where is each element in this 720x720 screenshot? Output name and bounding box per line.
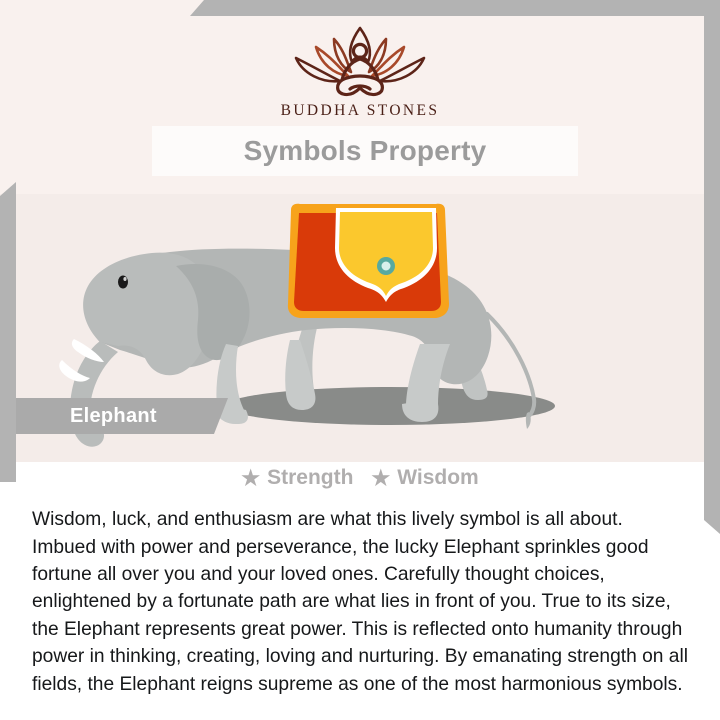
elephant-eye [118, 276, 128, 289]
trait-wisdom: ★ Wisdom [371, 466, 478, 490]
symbol-name: Elephant [16, 398, 206, 434]
brand-logo: BUDDHA STONES [0, 22, 720, 120]
brand-name: BUDDHA STONES [0, 102, 720, 120]
symbol-property-card: BUDDHA STONES Symbols Property [0, 0, 720, 720]
elephant-shadow [225, 387, 555, 425]
elephant-eye-highlight [123, 277, 126, 281]
trait-label: Strength [267, 466, 353, 490]
saddle-blanket [288, 204, 449, 318]
trait-strength: ★ Strength [241, 466, 353, 490]
lotus-meditation-logo-icon [278, 22, 442, 100]
decorative-bar-top [190, 0, 720, 16]
blanket-gem-inner [382, 262, 391, 271]
trait-list: ★ Strength ★ Wisdom [0, 462, 720, 490]
elephant-tail-tuft [526, 412, 531, 429]
symbol-description: Wisdom, luck, and enthusiasm are what th… [32, 506, 692, 698]
star-icon: ★ [371, 468, 390, 489]
page-title: Symbols Property [152, 126, 578, 176]
trait-label: Wisdom [397, 466, 478, 490]
star-icon: ★ [241, 468, 260, 489]
